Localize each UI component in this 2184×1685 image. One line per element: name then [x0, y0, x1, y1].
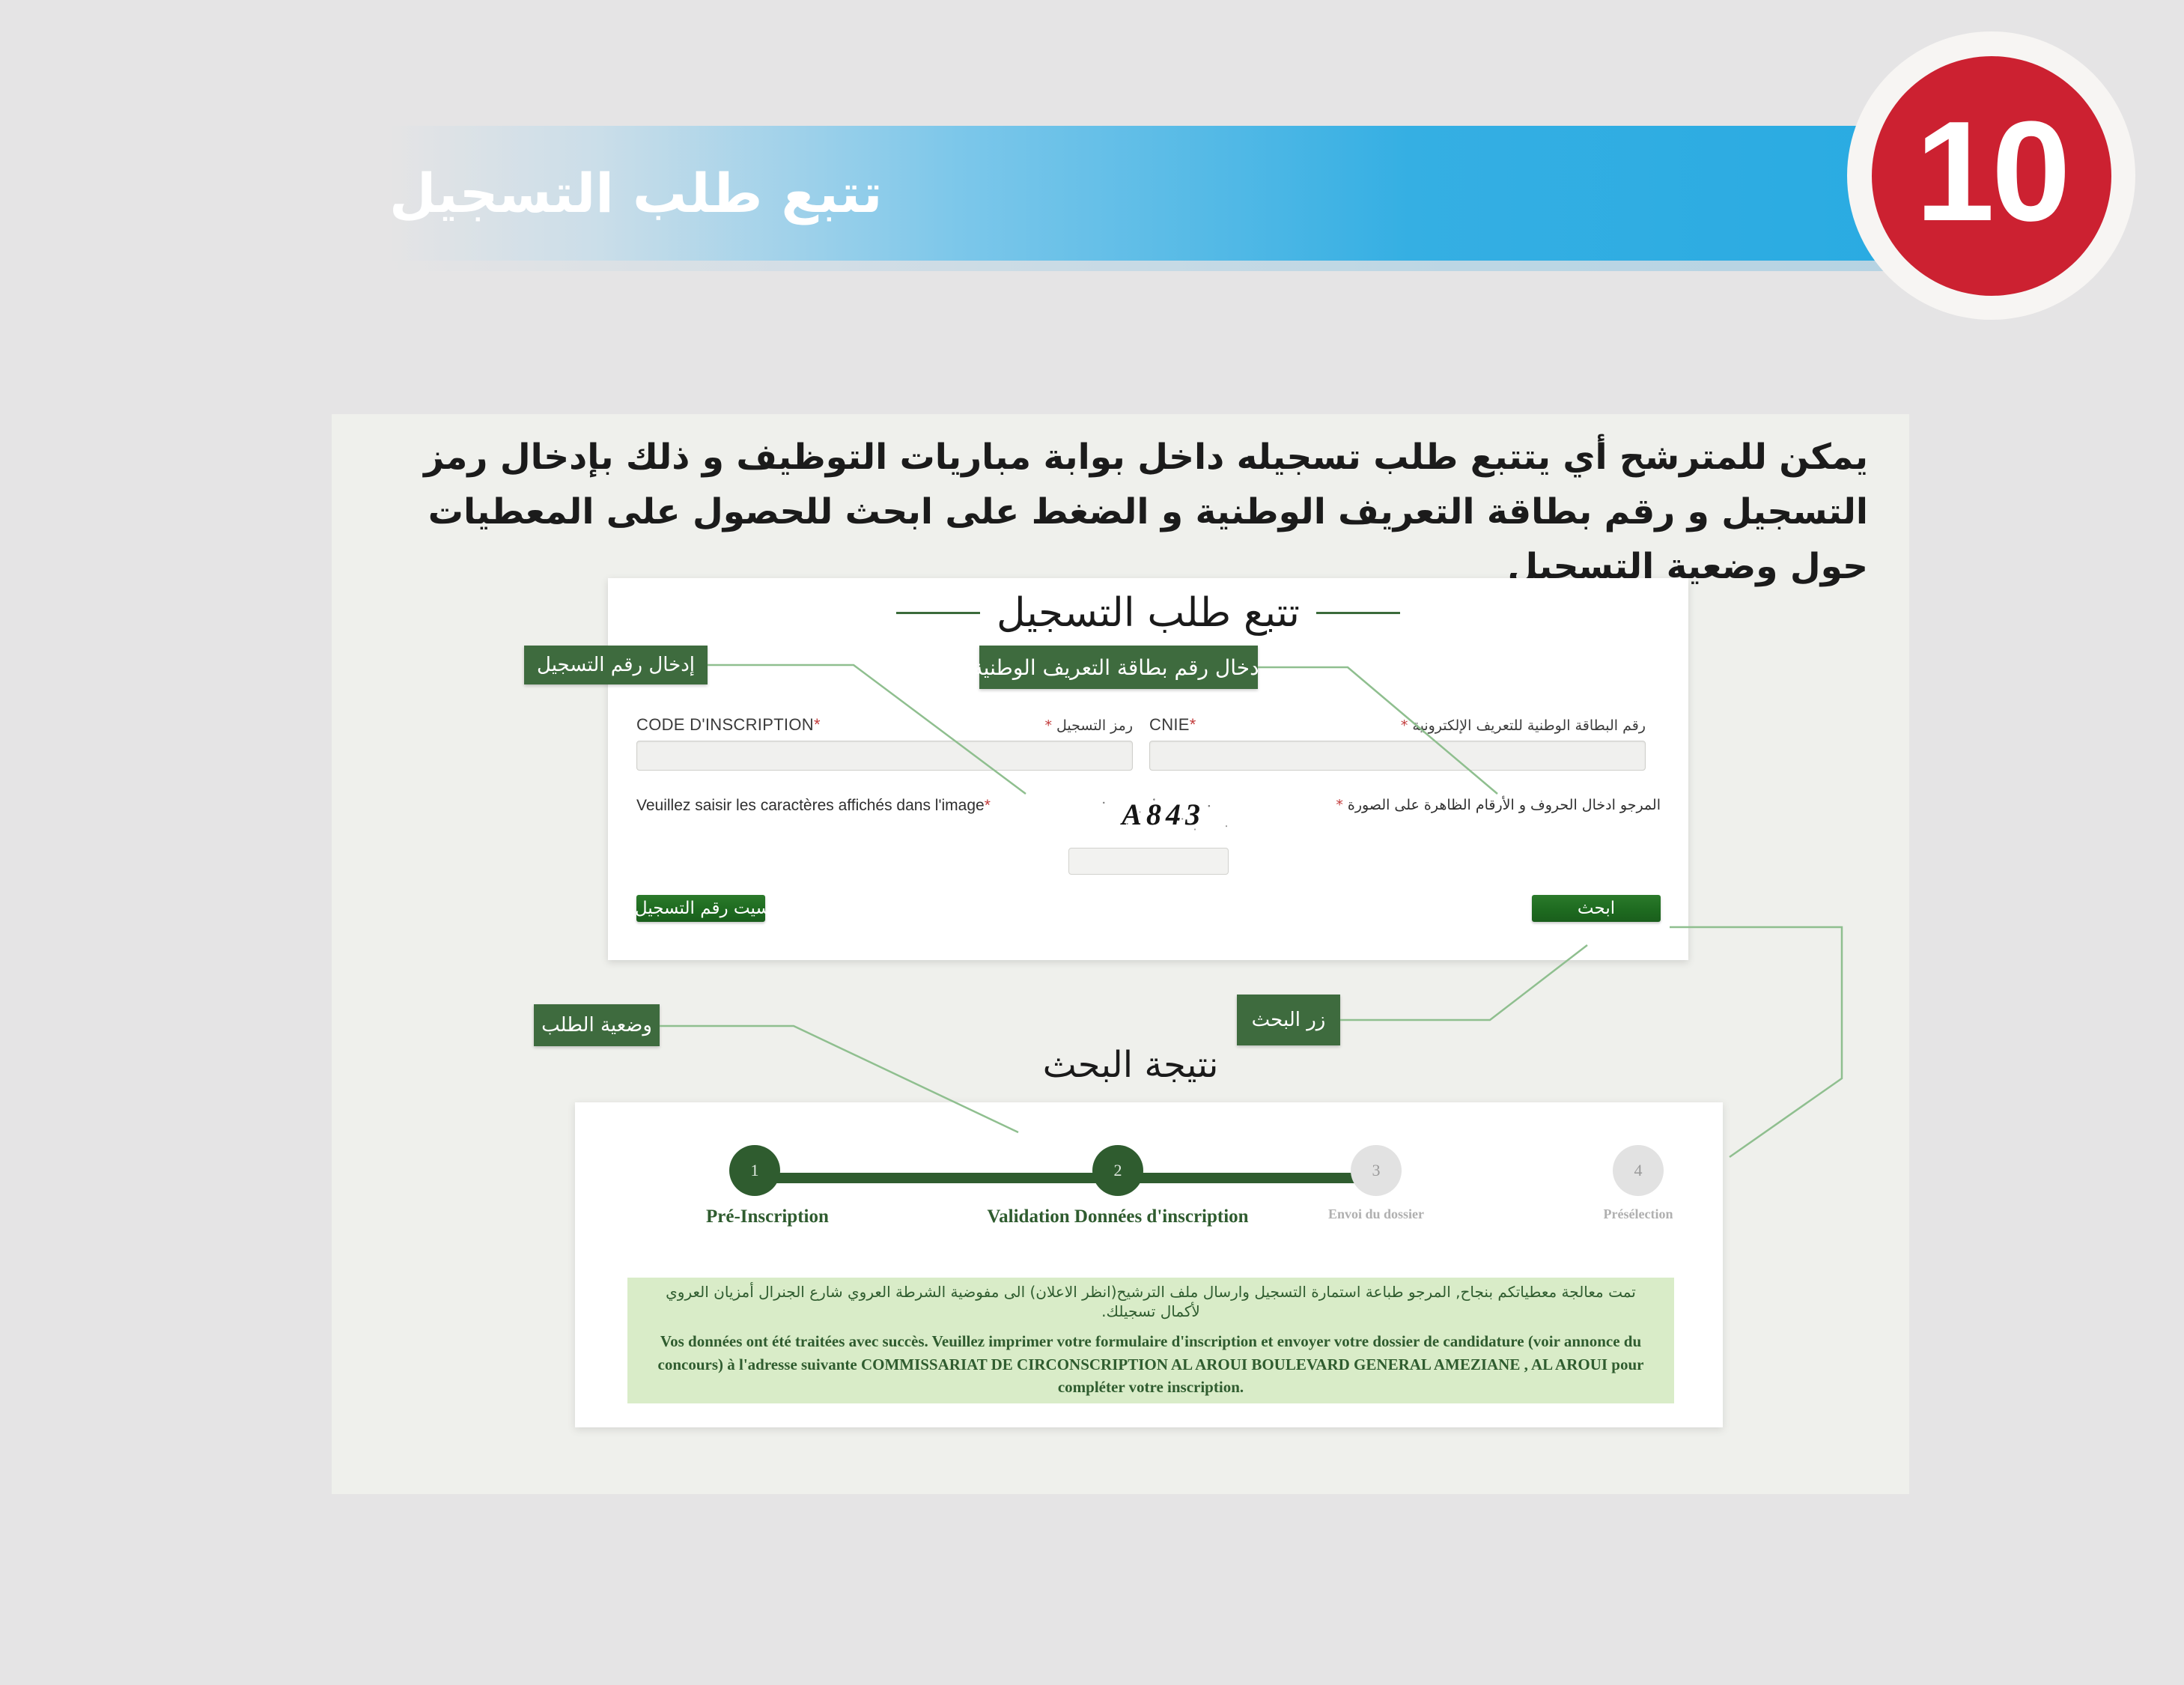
step-item-4: 4 Présélection	[1590, 1141, 1687, 1222]
success-message-ar: تمت معالجة معطياتكم بنجاح, المرجو طباعة …	[657, 1282, 1644, 1321]
success-message-fr: Vos données ont été traitées avec succès…	[657, 1330, 1644, 1398]
field-code-label-ar: رمز التسجيل *	[1044, 717, 1133, 734]
captcha-hint-fr: Veuillez saisir les caractères affichés …	[636, 794, 991, 815]
callout-search-button: زر البحث	[1237, 995, 1340, 1045]
step-label-3: Envoi du dossier	[1264, 1206, 1488, 1222]
callout-cnie: إدخال رقم بطاقة التعريف الوطنية	[979, 646, 1258, 689]
step-item-3: 3 Envoi du dossier	[1327, 1141, 1425, 1222]
callout-request-status: وضعية الطلب	[534, 1004, 660, 1046]
step-label-1: Pré-Inscription	[706, 1206, 803, 1227]
progress-stepper: 1 Pré-Inscription 2 Validation Données d…	[575, 1141, 1723, 1246]
step-label-2: Validation Données d'inscription	[961, 1206, 1275, 1227]
step-dot-3: 3	[1351, 1145, 1402, 1196]
success-message-box: تمت معالجة معطياتكم بنجاح, المرجو طباعة …	[627, 1278, 1674, 1403]
code-inscription-input[interactable]	[636, 741, 1133, 771]
step-item-1: 1 Pré-Inscription	[706, 1141, 803, 1227]
result-heading: نتيجة البحث	[981, 1044, 1280, 1086]
field-code-labels: CODE D'INSCRIPTION* رمز التسجيل *	[636, 715, 1133, 735]
field-cnie-label-ar: رقم البطاقة الوطنية للتعريف الإلكترونية …	[1401, 717, 1646, 734]
captcha-image: A843	[1085, 794, 1242, 834]
search-button[interactable]: ابحث	[1532, 895, 1661, 922]
field-cnie-labels: CNIE* رقم البطاقة الوطنية للتعريف الإلكت…	[1149, 715, 1646, 735]
form-buttons-row: نسيت رقم التسجيل؟ ابحث	[636, 895, 1661, 922]
form-fields-row: CODE D'INSCRIPTION* رمز التسجيل * CNIE* …	[636, 715, 1661, 771]
form-card-title: تتبع طلب التسجيل	[608, 590, 1688, 636]
callout-code-inscription: إدخال رقم التسجيل	[524, 646, 708, 684]
banner-shadow	[389, 261, 1887, 271]
captcha-row: Veuillez saisir les caractères affichés …	[636, 794, 1661, 834]
step-dot-4: 4	[1613, 1145, 1664, 1196]
field-code-inscription: CODE D'INSCRIPTION* رمز التسجيل *	[636, 715, 1133, 771]
tracking-form-card: تتبع طلب التسجيل CODE D'INSCRIPTION* رمز…	[608, 578, 1688, 960]
slide-number-badge: 10	[1872, 56, 2111, 296]
result-card: 1 Pré-Inscription 2 Validation Données d…	[575, 1102, 1723, 1427]
field-cnie: CNIE* رقم البطاقة الوطنية للتعريف الإلكت…	[1149, 715, 1646, 771]
header-banner: تتبع طلب التسجيل	[389, 126, 1887, 261]
captcha-input[interactable]	[1068, 848, 1229, 875]
slide-number-text: 10	[1915, 100, 2067, 243]
intro-paragraph: يمكن للمترشح أي يتتبع طلب تسجيله داخل بو…	[332, 431, 1909, 595]
step-dot-2: 2	[1092, 1145, 1143, 1196]
forgot-code-button[interactable]: نسيت رقم التسجيل؟	[636, 895, 765, 922]
field-code-label-fr: CODE D'INSCRIPTION*	[636, 715, 821, 735]
field-cnie-label-fr: CNIE*	[1149, 715, 1196, 735]
cnie-input[interactable]	[1149, 741, 1646, 771]
slide-root: تتبع طلب التسجيل 10 يمكن للمترشح أي يتتب…	[0, 0, 2184, 1685]
banner-title: تتبع طلب التسجيل	[389, 126, 1887, 261]
captcha-hint-ar: المرجو ادخال الحروف و الأرقام الظاهرة عل…	[1336, 794, 1661, 813]
title-rule-right	[896, 612, 980, 614]
form-card-title-text: تتبع طلب التسجيل	[997, 590, 1300, 636]
title-rule-left	[1316, 612, 1400, 614]
step-item-2: 2 Validation Données d'inscription	[1069, 1141, 1166, 1227]
step-label-4: Présélection	[1548, 1206, 1728, 1222]
step-dot-1: 1	[729, 1145, 780, 1196]
step-track-1-2	[755, 1173, 1118, 1183]
